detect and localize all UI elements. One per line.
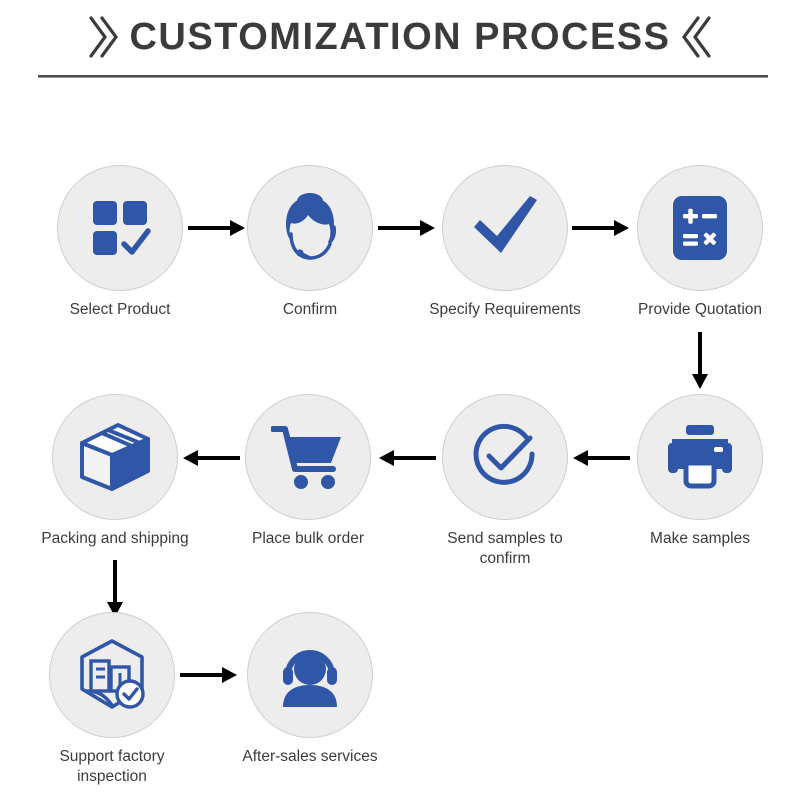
printer-icon — [664, 423, 736, 491]
package-box-icon — [78, 421, 152, 493]
circle-check-icon — [468, 420, 542, 494]
grid-check-icon — [87, 195, 153, 261]
step-icon-circle — [442, 394, 568, 520]
customization-process-infographic: CUSTOMIZATION PROCESS Select Produ — [0, 0, 800, 800]
step-node-provide-quotation[interactable]: Provide Quotation — [620, 165, 780, 320]
shopping-cart-icon — [271, 423, 345, 491]
step-label: Provide Quotation — [620, 300, 780, 320]
checkmark-icon — [468, 191, 542, 265]
step-icon-circle — [637, 165, 763, 291]
arrow-quotation-to-make-samples — [690, 332, 710, 390]
header-divider — [38, 75, 768, 78]
step-icon-circle — [245, 394, 371, 520]
step-icon-circle — [247, 612, 373, 738]
step-label: After-sales services — [230, 747, 390, 767]
step-node-select-product[interactable]: Select Product — [40, 165, 200, 320]
support-agent-icon — [274, 192, 346, 264]
step-label: Specify Requirements — [425, 300, 585, 320]
step-icon-circle — [52, 394, 178, 520]
step-icon-circle — [247, 165, 373, 291]
double-chevron-right-icon — [85, 14, 119, 60]
step-icon-circle — [49, 612, 175, 738]
step-node-send-samples-to-confirm[interactable]: Send samples to confirm — [425, 394, 585, 570]
headset-person-icon — [274, 641, 346, 709]
step-node-specify-requirements[interactable]: Specify Requirements — [425, 165, 585, 320]
page-header: CUSTOMIZATION PROCESS — [0, 6, 800, 68]
step-node-packing-and-shipping[interactable]: Packing and shipping — [35, 394, 195, 549]
step-node-place-bulk-order[interactable]: Place bulk order — [228, 394, 388, 549]
step-icon-circle — [442, 165, 568, 291]
step-label: Place bulk order — [228, 529, 388, 549]
step-icon-circle — [57, 165, 183, 291]
arrow-packing-to-inspection — [105, 560, 125, 618]
step-label: Support factory inspection — [32, 747, 192, 788]
step-label: Confirm — [230, 300, 390, 320]
step-label: Packing and shipping — [35, 529, 195, 549]
step-label: Send samples to confirm — [425, 529, 585, 570]
step-node-confirm[interactable]: Confirm — [230, 165, 390, 320]
page-title: CUSTOMIZATION PROCESS — [129, 16, 670, 59]
step-node-make-samples[interactable]: Make samples — [620, 394, 780, 549]
factory-shield-check-icon — [74, 637, 150, 713]
step-icon-circle — [637, 394, 763, 520]
step-label: Make samples — [620, 529, 780, 549]
calculator-icon — [669, 194, 731, 262]
step-label: Select Product — [40, 300, 200, 320]
step-node-after-sales-services[interactable]: After-sales services — [230, 612, 390, 767]
step-node-support-factory-inspection[interactable]: Support factory inspection — [32, 612, 192, 788]
double-chevron-left-icon — [681, 14, 715, 60]
